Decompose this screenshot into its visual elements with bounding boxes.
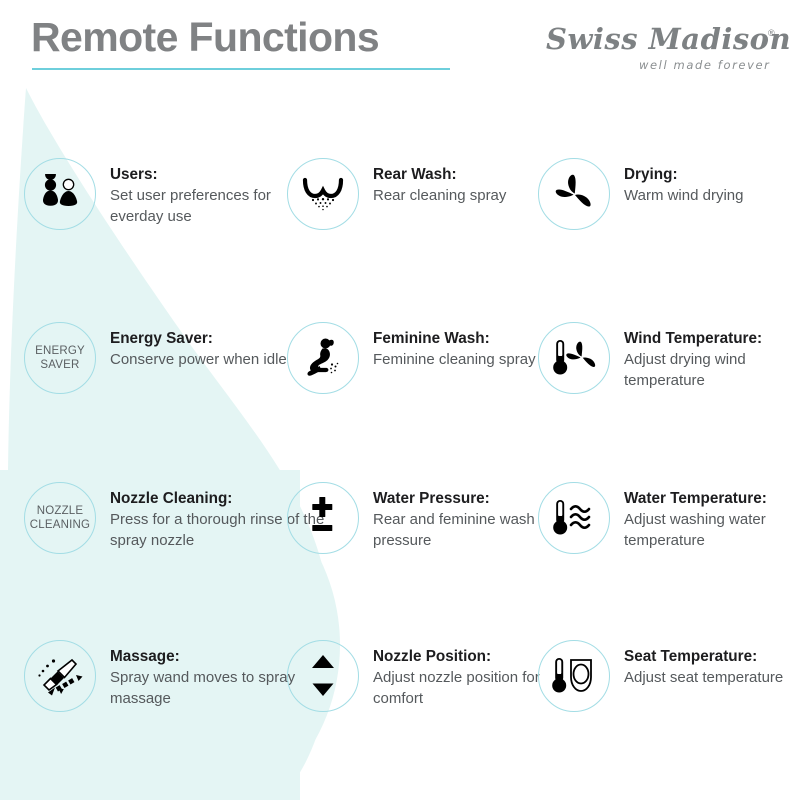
- feature-desc: Feminine cleaning spray: [373, 349, 536, 370]
- feature-desc: Spray wand moves to spray massage: [110, 667, 315, 710]
- feature-title: Users:: [110, 164, 310, 185]
- page-title: Remote Functions: [31, 17, 379, 58]
- feature-text: Users: Set user preferences for everday …: [110, 158, 310, 228]
- feature-grid: Users: Set user preferences for everday …: [0, 0, 800, 800]
- feature-wind-temperature[interactable]: Wind Temperature: Adjust drying wind tem…: [538, 322, 800, 394]
- rear-wash-spray-icon: [287, 158, 359, 230]
- feature-water-temperature[interactable]: Water Temperature: Adjust washing water …: [538, 482, 800, 554]
- feature-text: Wind Temperature: Adjust drying wind tem…: [624, 322, 800, 392]
- infographic-page: Remote Functions Swiss Madison ® well ma…: [0, 0, 800, 800]
- feature-desc: Adjust washing water temperature: [624, 509, 800, 552]
- seated-woman-spray-icon: [287, 322, 359, 394]
- feature-title: Feminine Wash:: [373, 328, 536, 349]
- feature-desc: Conserve power when idle: [110, 349, 287, 370]
- thermometer: [553, 500, 567, 535]
- feature-desc: Set user preferences for everday use: [110, 185, 310, 228]
- header: Remote Functions Swiss Madison ® well ma…: [0, 0, 800, 95]
- feature-desc: Rear cleaning spray: [373, 185, 506, 206]
- feature-rear-wash[interactable]: Rear Wash: Rear cleaning spray: [287, 158, 506, 230]
- feature-desc: Adjust seat temperature: [624, 667, 783, 688]
- feature-massage[interactable]: Massage: Spray wand moves to spray massa…: [24, 640, 315, 712]
- spray-dots: [38, 659, 55, 676]
- thermometer-waves-icon: [538, 482, 610, 554]
- two-users-icon: [24, 158, 96, 230]
- feature-text: Feminine Wash: Feminine cleaning spray: [373, 322, 536, 370]
- fan-blade-icon: [538, 158, 610, 230]
- waves: [571, 506, 589, 527]
- energy-saver-text-icon: ENERGY SAVER: [24, 322, 96, 394]
- feature-text: Seat Temperature: Adjust seat temperatur…: [624, 640, 783, 688]
- feature-nozzle-cleaning[interactable]: NOZZLE CLEANING Nozzle Cleaning: Press f…: [24, 482, 325, 554]
- spray-wand-massage-icon: [24, 640, 96, 712]
- energy-saver-label: ENERGY SAVER: [25, 344, 95, 373]
- feature-title: Drying:: [624, 164, 743, 185]
- feature-water-pressure[interactable]: Water Pressure: Rear and feminine wash p…: [287, 482, 573, 554]
- thermometer: [553, 340, 567, 375]
- feature-text: Energy Saver: Conserve power when idle: [110, 322, 287, 370]
- nozzle-cleaning-text-icon: NOZZLE CLEANING: [24, 482, 96, 554]
- feature-text: Drying: Warm wind drying: [624, 158, 743, 206]
- thermometer-seat-icon: [538, 640, 610, 712]
- brand-tagline: well made forever: [639, 58, 771, 72]
- plus-minus-icon: [287, 482, 359, 554]
- brand-wordmark-text: Swiss Madison: [546, 22, 791, 56]
- feature-title: Rear Wash:: [373, 164, 506, 185]
- brand-logo: Swiss Madison ® well made forever: [546, 24, 786, 76]
- feature-text: Water Temperature: Adjust washing water …: [624, 482, 800, 552]
- feature-desc: Warm wind drying: [624, 185, 743, 206]
- feature-text: Massage: Spray wand moves to spray massa…: [110, 640, 315, 710]
- feature-desc: Adjust drying wind temperature: [624, 349, 800, 392]
- title-underline: [32, 68, 450, 70]
- feature-energy-saver[interactable]: ENERGY SAVER Energy Saver: Conserve powe…: [24, 322, 287, 394]
- fan: [566, 342, 595, 367]
- up-down-arrows-icon: [287, 640, 359, 712]
- feature-feminine-wash[interactable]: Feminine Wash: Feminine cleaning spray: [287, 322, 536, 394]
- feature-text: Rear Wash: Rear cleaning spray: [373, 158, 506, 206]
- feature-title: Seat Temperature:: [624, 646, 783, 667]
- toilet-seat: [571, 660, 591, 691]
- feature-title: Energy Saver:: [110, 328, 287, 349]
- wand: [44, 660, 76, 690]
- feature-drying[interactable]: Drying: Warm wind drying: [538, 158, 743, 230]
- feature-users[interactable]: Users: Set user preferences for everday …: [24, 158, 310, 230]
- feature-title: Water Temperature:: [624, 488, 800, 509]
- thermometer-fan-icon: [538, 322, 610, 394]
- feature-seat-temperature[interactable]: Seat Temperature: Adjust seat temperatur…: [538, 640, 783, 712]
- registered-trademark-icon: ®: [768, 28, 775, 38]
- brand-wordmark: Swiss Madison: [546, 24, 786, 54]
- feature-title: Massage:: [110, 646, 315, 667]
- thermometer: [552, 658, 566, 693]
- nozzle-cleaning-label: NOZZLE CLEANING: [25, 504, 95, 533]
- feature-title: Wind Temperature:: [624, 328, 800, 349]
